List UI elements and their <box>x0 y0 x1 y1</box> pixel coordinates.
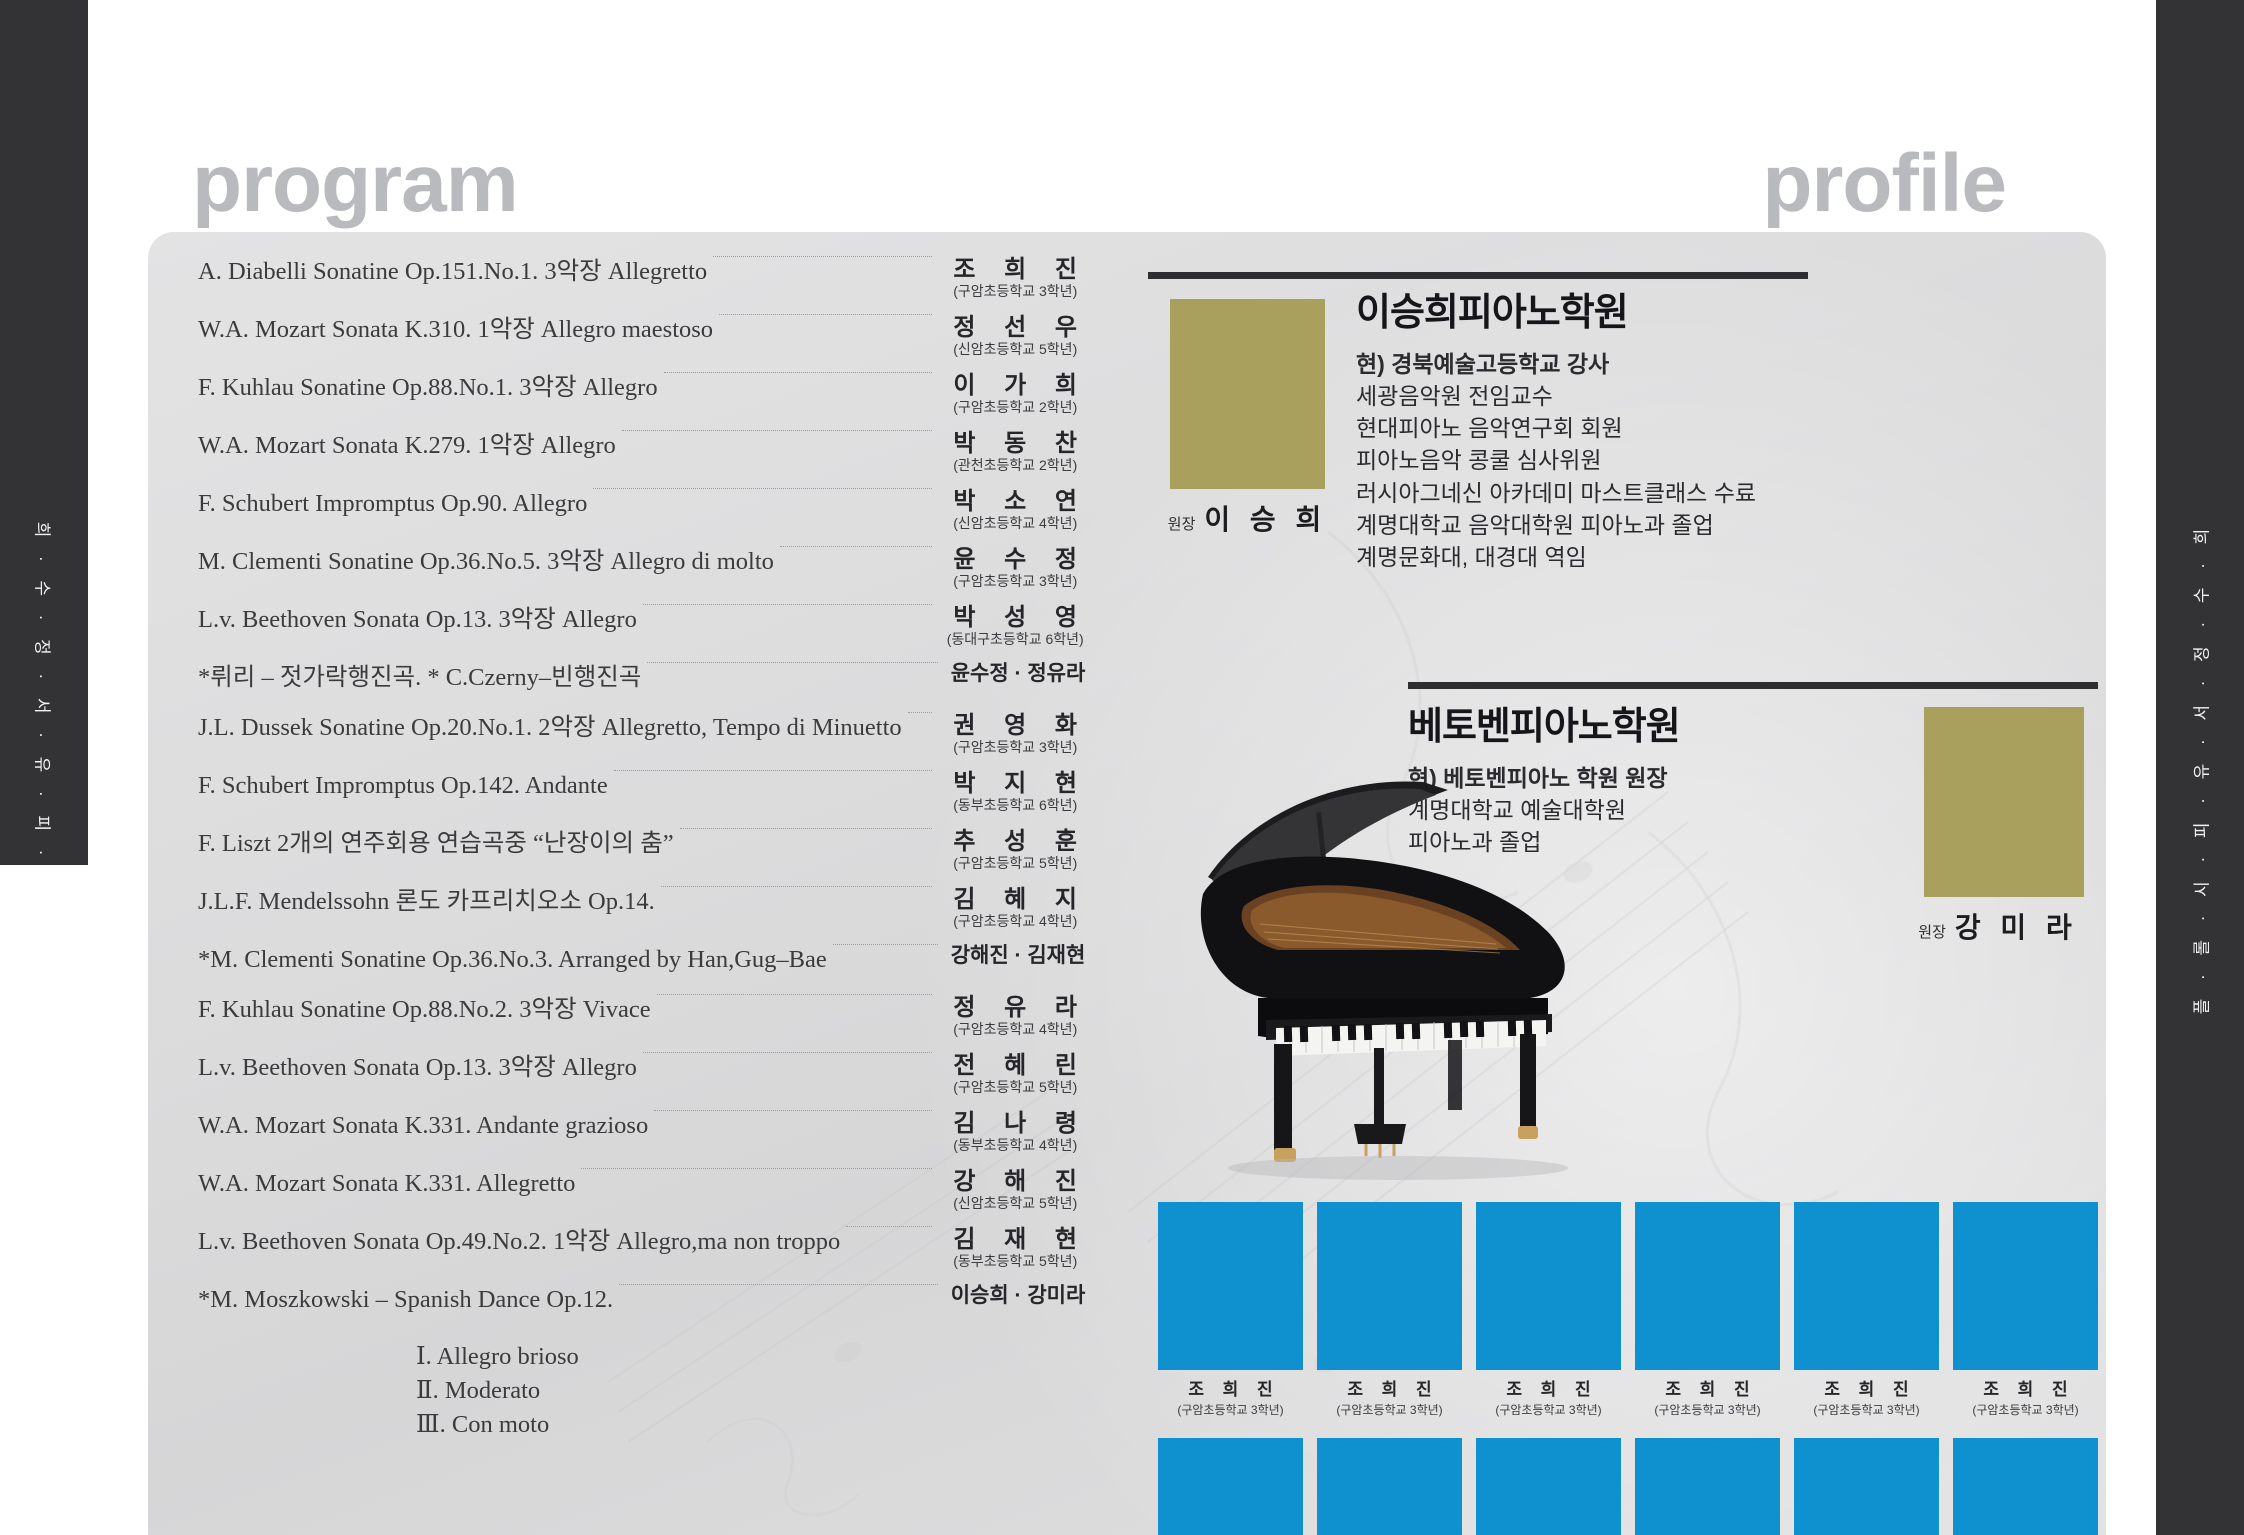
program-row: W.A. Mozart Sonata K.331. Andante grazio… <box>198 1110 1088 1168</box>
student-photo-placeholder <box>1158 1438 1303 1535</box>
performer-name: 추 성 훈 <box>942 828 1088 856</box>
photo-student-school: (구암초등학교 3학년) <box>1317 1401 1462 1418</box>
photo-student-name: 조 희 진 <box>1476 1375 1621 1400</box>
program-piece-title: *M. Moszkowski – Spanish Dance Op.12. <box>198 1284 619 1314</box>
program-performer: 정 선 우(신암초등학교 5학년) <box>932 314 1088 357</box>
performer-school: (동부초등학교 6학년) <box>942 797 1088 814</box>
photo-student-school: (구암초등학교 3학년) <box>1158 1401 1303 1418</box>
performer-name: 이승희 · 강미라 <box>948 1284 1088 1308</box>
movement-item: Ⅱ. Moderato <box>416 1374 1088 1408</box>
performer-name: 박 지 현 <box>942 770 1088 798</box>
photo-student-name: 조 희 진 <box>1158 1375 1303 1400</box>
program-performer: 이 가 희(구암초등학교 2학년) <box>932 372 1088 415</box>
program-dot-leader <box>614 770 933 771</box>
photo-student-school: (구암초등학교 3학년) <box>1953 1401 2098 1418</box>
performer-school: (구암초등학교 2학년) <box>942 399 1088 416</box>
program-dot-leader <box>661 886 933 887</box>
performer-school: (신암초등학교 4학년) <box>942 515 1088 532</box>
program-piece-title: W.A. Mozart Sonata K.310. 1악장 Allegro ma… <box>198 314 719 344</box>
profile-1-portrait-swatch <box>1170 299 1325 489</box>
performer-name: 박 동 찬 <box>942 430 1088 458</box>
credential-line: 현) 경북예술고등학교 강사 <box>1356 348 2088 380</box>
photo-grid-item: 조 희 진(구암초등학교 3학년) <box>1476 1202 1621 1418</box>
photo-student-name: 조 희 진 <box>1794 1375 1939 1400</box>
performer-school: (신암초등학교 5학년) <box>942 1195 1088 1212</box>
program-performer: 김 혜 지(구암초등학교 4학년) <box>932 886 1088 929</box>
student-photo-placeholder <box>1158 1202 1303 1370</box>
program-row: F. Kuhlau Sonatine Op.88.No.1. 3악장 Alleg… <box>198 372 1088 430</box>
photo-student-name: 조 희 진 <box>1635 1375 1780 1400</box>
profile-1-rule <box>1148 272 1808 279</box>
performer-name: 권 영 화 <box>942 712 1088 740</box>
performer-name: 조 희 진 <box>942 256 1088 284</box>
program-piece-title: L.v. Beethoven Sonata Op.49.No.2. 1악장 Al… <box>198 1226 846 1256</box>
profile-2-owner-name: 강 미 라 <box>1955 906 2078 946</box>
program-row: L.v. Beethoven Sonata Op.13. 3악장 Allegro… <box>198 604 1088 662</box>
student-photo-placeholder <box>1476 1438 1621 1535</box>
program-piece-title: W.A. Mozart Sonata K.279. 1악장 Allegro <box>198 430 622 460</box>
program-piece-title: W.A. Mozart Sonata K.331. Allegretto <box>198 1168 581 1198</box>
photo-grid-item: 조 희 진(구암초등학교 3학년) <box>1317 1438 1462 1535</box>
profile-2-portrait-swatch <box>1924 707 2084 897</box>
photo-grid-item: 조 희 진(구암초등학교 3학년) <box>1158 1202 1303 1418</box>
performer-name: 강해진 · 김재현 <box>948 944 1088 968</box>
performer-name: 정 선 우 <box>942 314 1088 342</box>
program-piece-title: J.L.F. Mendelssohn 론도 카프리치오소 Op.14. <box>198 886 661 916</box>
performer-school: (동부초등학교 5학년) <box>942 1253 1088 1270</box>
program-performer: 이승희 · 강미라 <box>938 1284 1088 1308</box>
performer-name: 강 해 진 <box>942 1168 1088 1196</box>
student-photo-placeholder <box>1635 1438 1780 1535</box>
program-piece-title: L.v. Beethoven Sonata Op.13. 3악장 Allegro <box>198 1052 643 1082</box>
program-row: F. Schubert Impromptus Op.90. Allegro박 소… <box>198 488 1088 546</box>
profile-1-academy-name: 이승희피아노학원 <box>1356 293 2088 335</box>
right-sidebar: 플 · 롤 · 시 · 피 · 유 · 서 · 정 · 수 · 희 <box>2156 0 2244 1535</box>
program-row: M. Clementi Sonatine Op.36.No.5. 3악장 All… <box>198 546 1088 604</box>
program-performer: 강해진 · 김재현 <box>938 944 1088 968</box>
program-row: J.L. Dussek Sonatine Op.20.No.1. 2악장 All… <box>198 712 1088 770</box>
performer-school: (구암초등학교 3학년) <box>942 739 1088 756</box>
performer-name: 정 유 라 <box>942 994 1088 1022</box>
program-row: *M. Moszkowski – Spanish Dance Op.12.이승희… <box>198 1284 1088 1334</box>
program-performer: 전 혜 린(구암초등학교 5학년) <box>932 1052 1088 1095</box>
photo-student-school: (구암초등학교 3학년) <box>1476 1401 1621 1418</box>
program-row: J.L.F. Mendelssohn 론도 카프리치오소 Op.14.김 혜 지… <box>198 886 1088 944</box>
profile-1-credentials: 현) 경북예술고등학교 강사세광음악원 전임교수현대피아노 음악연구회 회원피아… <box>1356 348 2088 573</box>
program-dot-leader <box>593 488 932 489</box>
student-photo-placeholder <box>1317 1202 1462 1370</box>
credential-line: 러시아그네신 아카데미 마스트클래스 수료 <box>1356 477 2088 509</box>
program-performer: 조 희 진(구암초등학교 3학년) <box>932 256 1088 299</box>
student-photo-placeholder <box>1635 1202 1780 1370</box>
student-photo-placeholder <box>1476 1202 1621 1370</box>
performer-school: (구암초등학교 5학년) <box>942 1079 1088 1096</box>
left-sidebar-notch <box>0 865 88 1535</box>
student-photo-grid: 조 희 진(구암초등학교 3학년)조 희 진(구암초등학교 3학년)조 희 진(… <box>1158 1202 2098 1535</box>
program-piece-title: F. Kuhlau Sonatine Op.88.No.2. 3악장 Vivac… <box>198 994 657 1024</box>
program-performer: 박 지 현(동부초등학교 6학년) <box>932 770 1088 813</box>
movement-item: Ⅰ. Allegro brioso <box>416 1340 1088 1374</box>
program-dot-leader <box>680 828 933 829</box>
left-sidebar: 희 · 수 · 정 · 서 · 유 · 피 · 시 · 플 · 롤 <box>0 0 88 1535</box>
program-dot-leader <box>643 604 933 605</box>
program-piece-title: F. Schubert Impromptus Op.142. Andante <box>198 770 614 800</box>
profile-heading: profile <box>1762 143 2006 225</box>
program-dot-leader <box>780 546 933 547</box>
program-piece-title: F. Schubert Impromptus Op.90. Allegro <box>198 488 593 518</box>
photo-grid-item: 조 희 진(구암초등학교 3학년) <box>1476 1438 1621 1535</box>
program-piece-title: F. Liszt 2개의 연주회용 연습곡중 “난장이의 춤” <box>198 828 680 858</box>
profile-1-owner-label: 원장 <box>1168 513 1196 534</box>
performer-name: 전 혜 린 <box>942 1052 1088 1080</box>
photo-student-name: 조 희 진 <box>1953 1375 2098 1400</box>
program-piece-title: M. Clementi Sonatine Op.36.No.5. 3악장 All… <box>198 546 780 576</box>
performer-school: (구암초등학교 3학년) <box>942 573 1088 590</box>
performer-school: (구암초등학교 4학년) <box>942 913 1088 930</box>
program-performer: 박 성 영(동대구초등학교 6학년) <box>932 604 1088 647</box>
performer-school: (동대구초등학교 6학년) <box>942 631 1088 648</box>
performer-school: (관천초등학교 2학년) <box>942 457 1088 474</box>
movement-list: Ⅰ. Allegro briosoⅡ. ModeratoⅢ. Con moto <box>198 1334 1088 1441</box>
program-performer: 정 유 라(구암초등학교 4학년) <box>932 994 1088 1037</box>
program-performer: 추 성 훈(구암초등학교 5학년) <box>932 828 1088 871</box>
program-row: A. Diabelli Sonatine Op.151.No.1. 3악장 Al… <box>198 256 1088 314</box>
photo-grid-item: 조 희 진(구암초등학교 3학년) <box>1635 1202 1780 1418</box>
program-dot-leader <box>657 994 933 995</box>
program-row: W.A. Mozart Sonata K.279. 1악장 Allegro박 동… <box>198 430 1088 488</box>
program-piece-title: A. Diabelli Sonatine Op.151.No.1. 3악장 Al… <box>198 256 713 286</box>
photo-student-school: (구암초등학교 3학년) <box>1794 1401 1939 1418</box>
program-row: L.v. Beethoven Sonata Op.13. 3악장 Allegro… <box>198 1052 1088 1110</box>
recital-program-page: 희 · 수 · 정 · 서 · 유 · 피 · 시 · 플 · 롤 플 · 롤 … <box>0 0 2244 1535</box>
program-performer: 윤 수 정(구암초등학교 3학년) <box>932 546 1088 589</box>
profile-2-owner-label: 원장 <box>1918 921 1946 942</box>
profile-column: 원장 이 승 희 이승희피아노학원 현) 경북예술고등학교 강사세광음악원 전임… <box>1148 232 2106 1535</box>
program-piece-title: *뤼리 – 젓가락행진곡. * C.Czerny–빈행진곡 <box>198 662 647 692</box>
program-row: *M. Clementi Sonatine Op.36.No.3. Arrang… <box>198 944 1088 994</box>
program-performer: 권 영 화(구암초등학교 3학년) <box>932 712 1088 755</box>
program-dot-leader <box>581 1168 932 1169</box>
profile-1-owner-line: 원장 이 승 희 <box>1148 498 1347 538</box>
credential-line: 피아노음악 콩쿨 심사위원 <box>1356 444 2088 476</box>
credential-line: 계명대학교 음악대학원 피아노과 졸업 <box>1356 509 2088 541</box>
program-heading: program <box>192 143 518 225</box>
program-row: *뤼리 – 젓가락행진곡. * C.Czerny–빈행진곡윤수정 · 정유라 <box>198 662 1088 712</box>
performer-school: (구암초등학교 4학년) <box>942 1021 1088 1038</box>
performer-name: 윤 수 정 <box>942 546 1088 574</box>
performer-name: 윤수정 · 정유라 <box>948 662 1088 686</box>
program-list: A. Diabelli Sonatine Op.151.No.1. 3악장 Al… <box>198 256 1088 1441</box>
performer-school: (구암초등학교 3학년) <box>942 283 1088 300</box>
photo-grid-item: 조 희 진(구암초등학교 3학년) <box>1635 1438 1780 1535</box>
performer-name: 김 나 령 <box>942 1110 1088 1138</box>
performer-name: 박 소 연 <box>942 488 1088 516</box>
credential-line: 세광음악원 전임교수 <box>1356 380 2088 412</box>
program-row: F. Schubert Impromptus Op.142. Andante박 … <box>198 770 1088 828</box>
profile-1-portrait-group: 원장 이 승 희 <box>1148 299 1348 538</box>
program-row: W.A. Mozart Sonata K.331. Allegretto강 해 … <box>198 1168 1088 1226</box>
program-piece-title: *M. Clementi Sonatine Op.36.No.3. Arrang… <box>198 944 833 974</box>
program-piece-title: J.L. Dussek Sonatine Op.20.No.1. 2악장 All… <box>198 712 908 742</box>
program-dot-leader <box>619 1284 938 1285</box>
profile-2-portrait-group: 원장 강 미 라 <box>1898 707 2098 946</box>
program-performer: 강 해 진(신암초등학교 5학년) <box>932 1168 1088 1211</box>
photo-student-name: 조 희 진 <box>1317 1375 1462 1400</box>
program-row: W.A. Mozart Sonata K.310. 1악장 Allegro ma… <box>198 314 1088 372</box>
program-dot-leader <box>908 712 933 713</box>
program-row: F. Liszt 2개의 연주회용 연습곡중 “난장이의 춤”추 성 훈(구암초… <box>198 828 1088 886</box>
grand-piano-image <box>1148 662 1668 1192</box>
performer-name: 이 가 희 <box>942 372 1088 400</box>
program-dot-leader <box>664 372 933 373</box>
profile-2-owner-line: 원장 강 미 라 <box>1898 906 2098 946</box>
right-sidebar-text: 플 · 롤 · 시 · 피 · 유 · 서 · 정 · 수 · 희 <box>2188 521 2213 1014</box>
program-performer: 김 나 령(동부초등학교 4학년) <box>932 1110 1088 1153</box>
photo-grid-item: 조 희 진(구암초등학교 3학년) <box>1794 1202 1939 1418</box>
photo-grid-item: 조 희 진(구암초등학교 3학년) <box>1317 1202 1462 1418</box>
student-photo-placeholder <box>1317 1438 1462 1535</box>
program-performer: 박 동 찬(관천초등학교 2학년) <box>932 430 1088 473</box>
photo-grid-item: 조 희 진(구암초등학교 3학년) <box>1953 1438 2098 1535</box>
student-photo-placeholder <box>1953 1438 2098 1535</box>
photo-grid-item: 조 희 진(구암초등학교 3학년) <box>1953 1202 2098 1418</box>
student-photo-placeholder <box>1953 1202 2098 1370</box>
performer-school: (동부초등학교 4학년) <box>942 1137 1088 1154</box>
student-photo-placeholder <box>1794 1438 1939 1535</box>
performer-school: (신암초등학교 5학년) <box>942 341 1088 358</box>
program-performer: 윤수정 · 정유라 <box>938 662 1088 686</box>
photo-grid-item: 조 희 진(구암초등학교 3학년) <box>1158 1438 1303 1535</box>
credential-line: 현대피아노 음악연구회 회원 <box>1356 412 2088 444</box>
performer-name: 박 성 영 <box>942 604 1088 632</box>
program-dot-leader <box>643 1052 933 1053</box>
program-piece-title: L.v. Beethoven Sonata Op.13. 3악장 Allegro <box>198 604 643 634</box>
program-piece-title: F. Kuhlau Sonatine Op.88.No.1. 3악장 Alleg… <box>198 372 664 402</box>
program-dot-leader <box>719 314 932 315</box>
program-dot-leader <box>846 1226 932 1227</box>
student-photo-placeholder <box>1794 1202 1939 1370</box>
program-performer: 김 재 현(동부초등학교 5학년) <box>932 1226 1088 1269</box>
program-dot-leader <box>833 944 938 945</box>
program-dot-leader <box>654 1110 932 1111</box>
profile-block-1: 원장 이 승 희 이승희피아노학원 현) 경북예술고등학교 강사세광음악원 전임… <box>1148 272 2088 573</box>
movement-item: Ⅲ. Con moto <box>416 1408 1088 1442</box>
photo-grid-item: 조 희 진(구암초등학교 3학년) <box>1794 1438 1939 1535</box>
photo-student-school: (구암초등학교 3학년) <box>1635 1401 1780 1418</box>
program-performer: 박 소 연(신암초등학교 4학년) <box>932 488 1088 531</box>
program-dot-leader <box>713 256 932 257</box>
performer-school: (구암초등학교 5학년) <box>942 855 1088 872</box>
program-dot-leader <box>622 430 933 431</box>
program-piece-title: W.A. Mozart Sonata K.331. Andante grazio… <box>198 1110 654 1140</box>
profile-1-owner-name: 이 승 희 <box>1204 498 1327 538</box>
program-row: L.v. Beethoven Sonata Op.49.No.2. 1악장 Al… <box>198 1226 1088 1284</box>
program-row: F. Kuhlau Sonatine Op.88.No.2. 3악장 Vivac… <box>198 994 1088 1052</box>
performer-name: 김 혜 지 <box>942 886 1088 914</box>
credential-line: 계명문화대, 대경대 역임 <box>1356 541 2088 573</box>
content-panel: A. Diabelli Sonatine Op.151.No.1. 3악장 Al… <box>148 232 2106 1535</box>
program-dot-leader <box>647 662 938 663</box>
performer-name: 김 재 현 <box>942 1226 1088 1254</box>
